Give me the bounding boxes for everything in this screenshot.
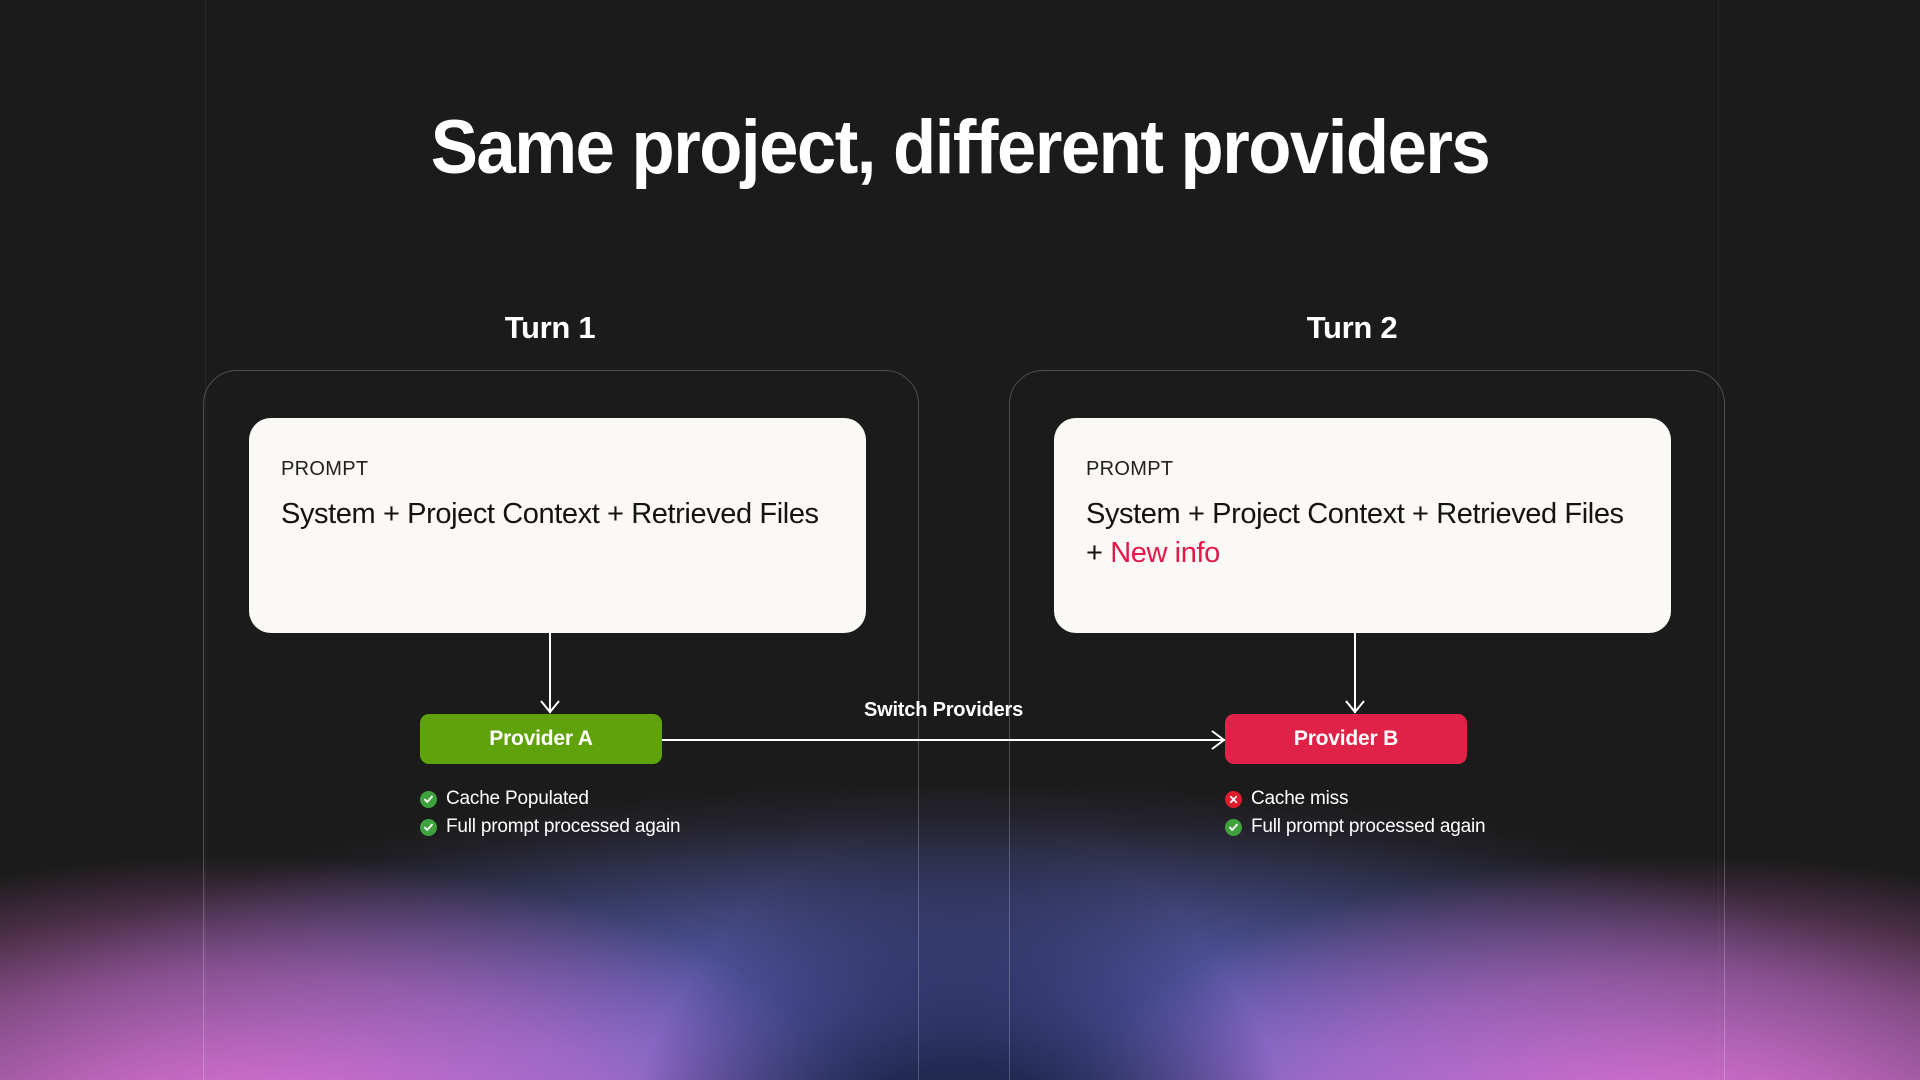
turn-2-status-list: Cache miss Full prompt processed again <box>1225 788 1485 844</box>
status-text: Full prompt processed again <box>1251 816 1485 838</box>
status-text: Cache Populated <box>446 788 589 810</box>
switch-providers-label: Switch Providers <box>662 699 1225 722</box>
status-item: Full prompt processed again <box>420 816 680 838</box>
check-circle-icon <box>420 819 437 836</box>
page-title: Same project, different providers <box>67 104 1853 191</box>
prompt-body-highlight: New info <box>1110 537 1220 569</box>
switch-providers-connector: Switch Providers <box>662 700 1225 764</box>
x-circle-icon <box>1225 791 1242 808</box>
prompt-body: System + Project Context + Retrieved Fil… <box>281 495 834 534</box>
prompt-body: System + Project Context + Retrieved Fil… <box>1086 495 1639 573</box>
status-item: Cache miss <box>1225 788 1485 810</box>
switch-providers-line <box>662 739 1225 741</box>
turn-2-prompt-card: PROMPT System + Project Context + Retrie… <box>1054 418 1671 633</box>
status-item: Full prompt processed again <box>1225 816 1485 838</box>
turn-1-prompt-card: PROMPT System + Project Context + Retrie… <box>249 418 866 633</box>
turn-2-label: Turn 2 <box>1222 310 1482 346</box>
turn-1-status-list: Cache Populated Full prompt processed ag… <box>420 788 680 844</box>
diagram-canvas: Same project, different providers Turn 1… <box>0 0 1920 1080</box>
status-text: Full prompt processed again <box>446 816 680 838</box>
check-circle-icon <box>420 791 437 808</box>
provider-b-button[interactable]: Provider B <box>1225 714 1467 764</box>
turn-1-label: Turn 1 <box>420 310 680 346</box>
prompt-kicker: PROMPT <box>281 458 834 481</box>
arrow-right-icon <box>1211 730 1226 750</box>
provider-b-label: Provider B <box>1294 727 1398 751</box>
status-text: Cache miss <box>1251 788 1348 810</box>
prompt-kicker: PROMPT <box>1086 458 1639 481</box>
prompt-body-lead: System + Project Context + Retrieved Fil… <box>281 498 819 530</box>
provider-a-button[interactable]: Provider A <box>420 714 662 764</box>
check-circle-icon <box>1225 819 1242 836</box>
status-item: Cache Populated <box>420 788 680 810</box>
provider-a-label: Provider A <box>489 727 592 751</box>
